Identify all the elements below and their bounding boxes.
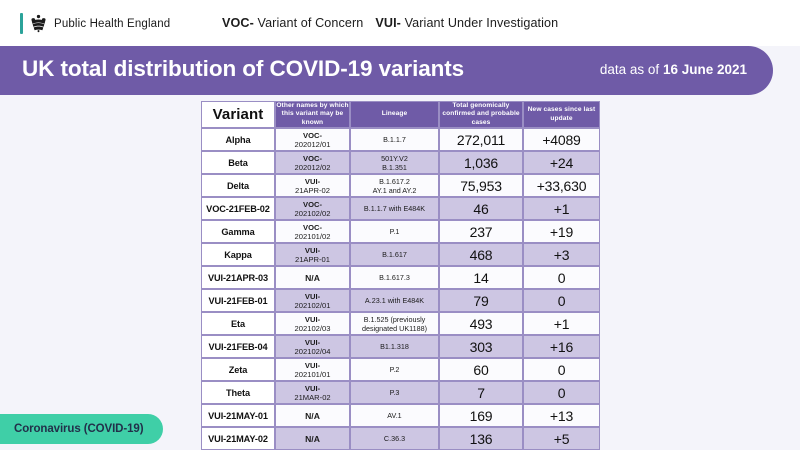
table-row: EtaVUI-202102/03B.1.525 (previouslydesig… <box>201 312 600 335</box>
table-row: DeltaVUI-21APR-02B.1.617.2AY.1 and AY.27… <box>201 174 600 197</box>
other-name-prefix: VUI- <box>276 361 349 370</box>
table-header: Variant Other names by which this varian… <box>201 101 600 128</box>
table-row: VUI-21MAY-02N/AC.36.3136+5 <box>201 427 600 450</box>
data-as-of-label: data as of 16 June 2021 <box>600 62 747 77</box>
column-header-other-names: Other names by which this variant may be… <box>275 101 350 128</box>
vui-dash: - <box>397 16 401 30</box>
other-name-suffix: 202012/01 <box>276 140 349 149</box>
other-name-suffix: 202102/03 <box>276 324 349 333</box>
other-name-suffix: 202102/04 <box>276 347 349 356</box>
cell-lineage: B.1.617.3 <box>350 266 439 289</box>
cell-lineage: P.1 <box>350 220 439 243</box>
column-header-total-cases: Total genomically confirmed and probable… <box>439 101 523 128</box>
table-row: AlphaVOC-202012/01B.1.1.7272,011+4089 <box>201 128 600 151</box>
table-header-row: Variant Other names by which this varian… <box>201 101 600 128</box>
cell-variant: Delta <box>201 174 275 197</box>
date-value: 16 June 2021 <box>663 62 747 77</box>
other-name-suffix: 202101/02 <box>276 232 349 241</box>
cell-lineage: B.1.1.7 <box>350 128 439 151</box>
table-row: ZetaVUI-202101/01P.2600 <box>201 358 600 381</box>
date-prefix: data as of <box>600 62 663 77</box>
other-name-prefix: VUI- <box>276 315 349 324</box>
cell-total-cases: 79 <box>439 289 523 312</box>
table-row: VUI-21FEB-04VUI-202102/04B1.1.318303+16 <box>201 335 600 358</box>
logo-accent-bar <box>20 13 23 34</box>
other-name-prefix: VOC- <box>276 131 349 140</box>
cell-lineage: C.36.3 <box>350 427 439 450</box>
table-row: GammaVOC-202101/02P.1237+19 <box>201 220 600 243</box>
other-name-suffix: 202012/02 <box>276 163 349 172</box>
cell-total-cases: 60 <box>439 358 523 381</box>
cell-total-cases: 46 <box>439 197 523 220</box>
coronavirus-badge-label: Coronavirus (COVID-19) <box>14 423 143 435</box>
page-title: UK total distribution of COVID-19 varian… <box>22 56 464 82</box>
other-name-suffix: 21APR-01 <box>276 255 349 264</box>
cell-new-cases: +19 <box>523 220 600 243</box>
cell-variant: Alpha <box>201 128 275 151</box>
other-name-suffix: 202102/01 <box>276 301 349 310</box>
cell-other-names: VUI-202102/04 <box>275 335 350 358</box>
other-name-not-available: N/A <box>305 434 320 444</box>
cell-variant: VUI-21FEB-04 <box>201 335 275 358</box>
cell-lineage: P.2 <box>350 358 439 381</box>
cell-total-cases: 493 <box>439 312 523 335</box>
cell-new-cases: 0 <box>523 358 600 381</box>
cell-total-cases: 136 <box>439 427 523 450</box>
cell-lineage: B.1.1.7 with E484K <box>350 197 439 220</box>
cell-variant: Theta <box>201 381 275 404</box>
voc-expansion: Variant of Concern <box>258 16 364 30</box>
cell-other-names: VUI-21APR-01 <box>275 243 350 266</box>
cell-new-cases: 0 <box>523 266 600 289</box>
column-header-variant: Variant <box>201 101 275 128</box>
cell-variant: VUI-21MAY-01 <box>201 404 275 427</box>
cell-new-cases: +1 <box>523 197 600 220</box>
cell-new-cases: 0 <box>523 381 600 404</box>
table-row: VUI-21FEB-01VUI-202102/01A.23.1 with E48… <box>201 289 600 312</box>
table-row: ThetaVUI-21MAR-02P.370 <box>201 381 600 404</box>
cell-other-names: VOC-202101/02 <box>275 220 350 243</box>
cell-new-cases: +13 <box>523 404 600 427</box>
cell-lineage: B.1.617 <box>350 243 439 266</box>
vui-expansion: Variant Under Investigation <box>405 16 559 30</box>
cell-other-names: VUI-202102/03 <box>275 312 350 335</box>
table-row: VOC-21FEB-02VOC-202102/02B.1.1.7 with E4… <box>201 197 600 220</box>
top-bar: Public Health England VOC- Variant of Co… <box>0 0 800 46</box>
cell-variant: VUI-21MAY-02 <box>201 427 275 450</box>
cell-new-cases: +16 <box>523 335 600 358</box>
cell-variant: VUI-21APR-03 <box>201 266 275 289</box>
variant-distribution-table: Variant Other names by which this varian… <box>201 101 600 450</box>
cell-new-cases: +4089 <box>523 128 600 151</box>
other-name-prefix: VOC- <box>276 200 349 209</box>
cell-total-cases: 303 <box>439 335 523 358</box>
cell-lineage: AV.1 <box>350 404 439 427</box>
other-name-prefix: VUI- <box>276 384 349 393</box>
cell-total-cases: 272,011 <box>439 128 523 151</box>
other-name-suffix: 202102/02 <box>276 209 349 218</box>
column-header-lineage: Lineage <box>350 101 439 128</box>
cell-lineage: B.1.525 (previouslydesignated UK1188) <box>350 312 439 335</box>
column-header-new-cases: New cases since last update <box>523 101 600 128</box>
table-row: KappaVUI-21APR-01B.1.617468+3 <box>201 243 600 266</box>
table-row: VUI-21MAY-01N/AAV.1169+13 <box>201 404 600 427</box>
other-name-not-available: N/A <box>305 273 320 283</box>
cell-total-cases: 75,953 <box>439 174 523 197</box>
phe-logo: Public Health England <box>20 13 170 34</box>
cell-new-cases: +1 <box>523 312 600 335</box>
cell-lineage: P.3 <box>350 381 439 404</box>
cell-variant: Zeta <box>201 358 275 381</box>
voc-abbreviation: VOC <box>222 16 250 30</box>
other-name-prefix: VUI- <box>276 177 349 186</box>
other-name-prefix: VUI- <box>276 338 349 347</box>
cell-other-names: N/A <box>275 266 350 289</box>
cell-other-names: VOC-202012/02 <box>275 151 350 174</box>
table-row: BetaVOC-202012/02501Y.V2B.1.3511,036+24 <box>201 151 600 174</box>
title-banner: UK total distribution of COVID-19 varian… <box>0 46 773 95</box>
cell-new-cases: +33,630 <box>523 174 600 197</box>
cell-lineage: A.23.1 with E484K <box>350 289 439 312</box>
cell-other-names: VUI-202102/01 <box>275 289 350 312</box>
other-name-not-available: N/A <box>305 411 320 421</box>
cell-other-names: VUI-21MAR-02 <box>275 381 350 404</box>
other-name-prefix: VUI- <box>276 292 349 301</box>
cell-other-names: VUI-21APR-02 <box>275 174 350 197</box>
cell-lineage: B.1.617.2AY.1 and AY.2 <box>350 174 439 197</box>
other-name-suffix: 202101/01 <box>276 370 349 379</box>
cell-variant: Beta <box>201 151 275 174</box>
cell-total-cases: 7 <box>439 381 523 404</box>
cell-new-cases: +24 <box>523 151 600 174</box>
other-name-suffix: 21APR-02 <box>276 186 349 195</box>
cell-new-cases: +5 <box>523 427 600 450</box>
cell-variant: VUI-21FEB-01 <box>201 289 275 312</box>
other-name-prefix: VOC- <box>276 154 349 163</box>
cell-total-cases: 468 <box>439 243 523 266</box>
other-name-prefix: VUI- <box>276 246 349 255</box>
cell-total-cases: 237 <box>439 220 523 243</box>
cell-other-names: VOC-202102/02 <box>275 197 350 220</box>
cell-variant: Gamma <box>201 220 275 243</box>
table-row: VUI-21APR-03N/AB.1.617.3140 <box>201 266 600 289</box>
cell-other-names: N/A <box>275 427 350 450</box>
cell-other-names: VOC-202012/01 <box>275 128 350 151</box>
other-name-suffix: 21MAR-02 <box>276 393 349 402</box>
cell-variant: Eta <box>201 312 275 335</box>
cell-lineage: 501Y.V2B.1.351 <box>350 151 439 174</box>
vui-abbreviation: VUI <box>375 16 396 30</box>
cell-new-cases: +3 <box>523 243 600 266</box>
variant-abbreviation-legend: VOC- Variant of ConcernVUI- Variant Unde… <box>222 16 558 30</box>
cell-other-names: VUI-202101/01 <box>275 358 350 381</box>
royal-crown-crest-icon <box>29 14 48 33</box>
organisation-name: Public Health England <box>54 18 170 30</box>
other-name-prefix: VOC- <box>276 223 349 232</box>
cell-variant: Kappa <box>201 243 275 266</box>
table-body: AlphaVOC-202012/01B.1.1.7272,011+4089Bet… <box>201 128 600 450</box>
cell-total-cases: 169 <box>439 404 523 427</box>
cell-lineage: B1.1.318 <box>350 335 439 358</box>
voc-dash: - <box>250 16 254 30</box>
cell-total-cases: 14 <box>439 266 523 289</box>
cell-new-cases: 0 <box>523 289 600 312</box>
coronavirus-badge: Coronavirus (COVID-19) <box>0 414 163 444</box>
cell-variant: VOC-21FEB-02 <box>201 197 275 220</box>
cell-total-cases: 1,036 <box>439 151 523 174</box>
cell-other-names: N/A <box>275 404 350 427</box>
